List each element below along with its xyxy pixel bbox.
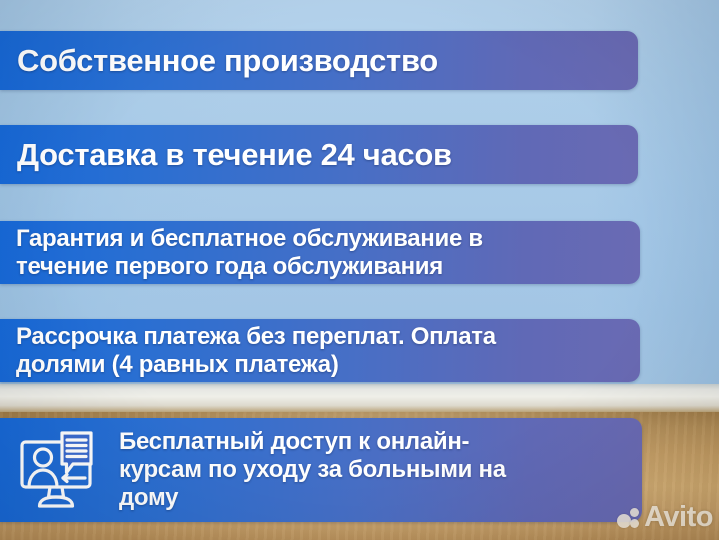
avito-wordmark: Avito [644,503,713,532]
feature-banner-online-courses: Бесплатный доступ к онлайн- курсам по ух… [0,418,642,522]
avito-dot-large [617,514,631,528]
avito-dot-small-top [630,508,639,517]
feature-banner-text: Рассрочка платежа без переплат. Оплата д… [16,323,496,379]
feature-banner-text: Бесплатный доступ к онлайн- курсам по ух… [119,428,506,512]
feature-banner-text: Доставка в течение 24 часов [17,138,452,172]
feature-banner-delivery: Доставка в течение 24 часов [0,125,638,184]
feature-banner-own-production: Собственное производство [0,31,638,90]
avito-dot-small-bottom [630,519,639,528]
background-ledge [0,384,719,414]
feature-banner-installment: Рассрочка платежа без переплат. Оплата д… [0,319,640,382]
feature-banner-text: Собственное производство [17,44,438,78]
avito-dots-logo-icon [617,507,639,529]
feature-banner-text: Гарантия и бесплатное обслуживание в теч… [16,225,483,281]
avito-watermark: Avito [617,503,713,532]
feature-banner-warranty: Гарантия и бесплатное обслуживание в теч… [0,221,640,284]
listing-image: Собственное производство Доставка в тече… [0,0,719,540]
online-course-monitor-icon [13,426,105,514]
